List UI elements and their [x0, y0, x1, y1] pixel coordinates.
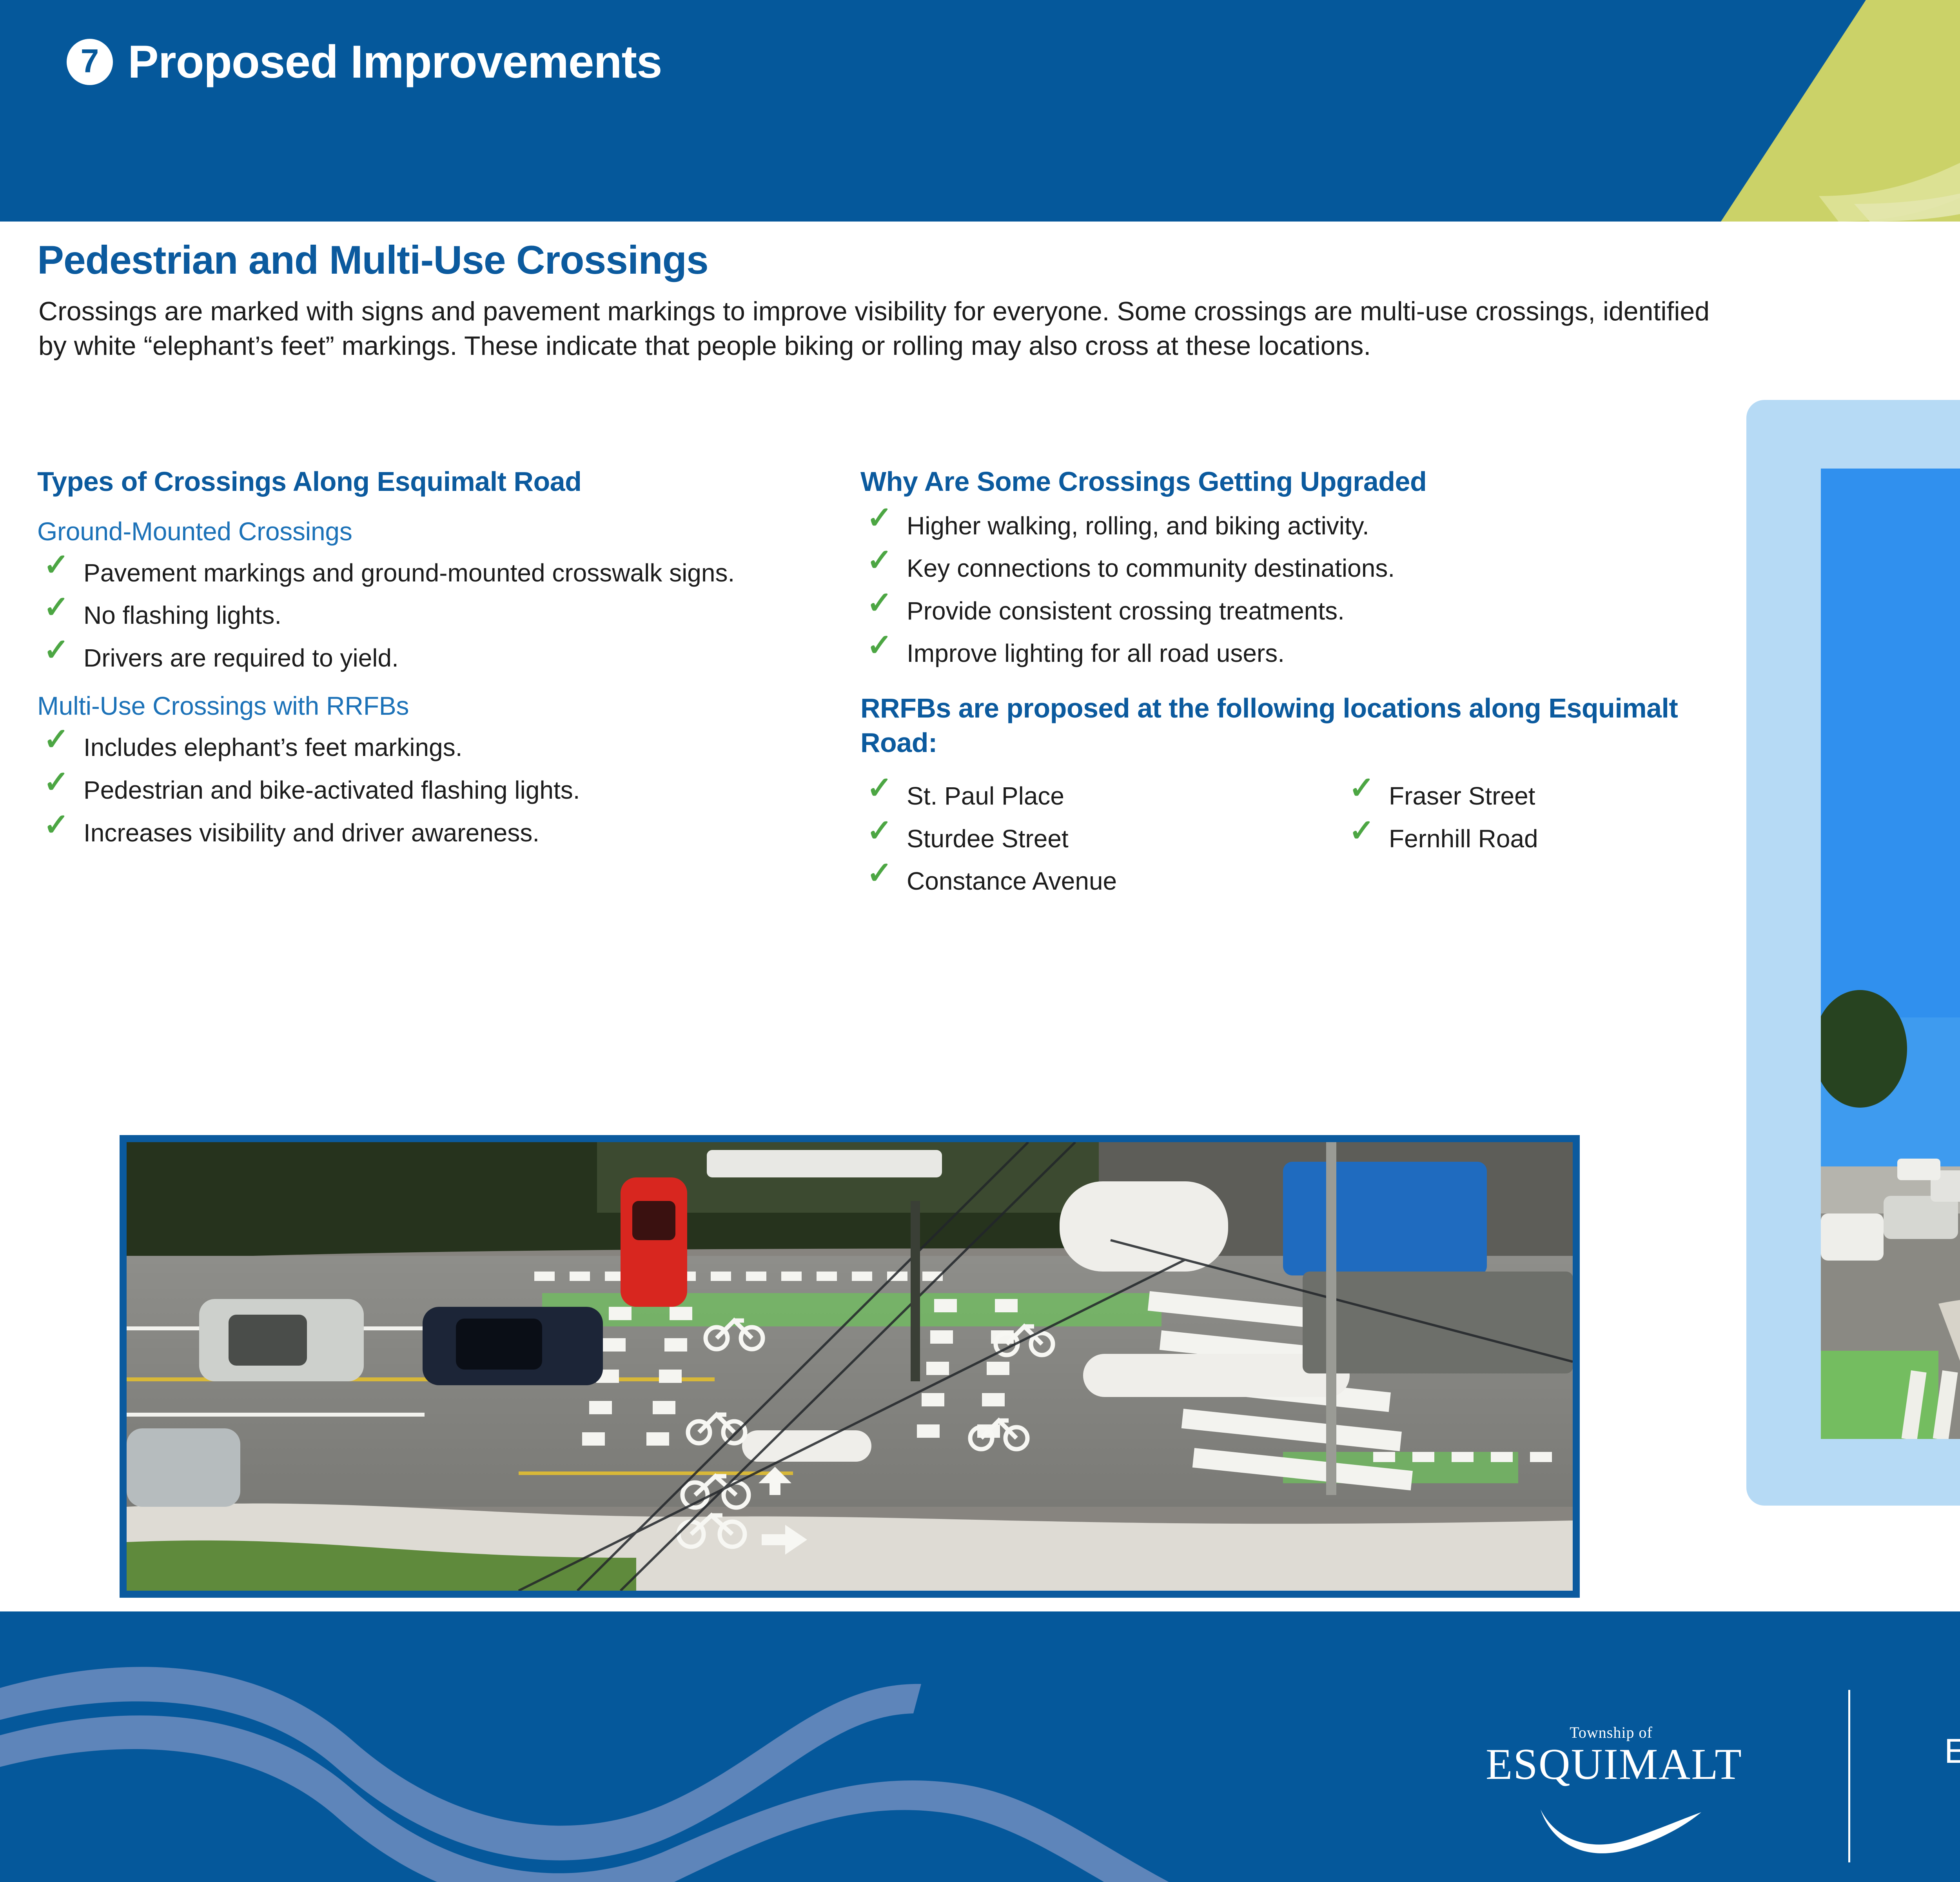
left-column-heading: Types of Crossings Along Esquimalt Road — [37, 465, 876, 499]
check-icon: ✓ — [44, 634, 69, 665]
list-item-label: Fraser Street — [1389, 782, 1535, 810]
main-content: Pedestrian and Multi-Use Crossings Cross… — [0, 222, 1960, 1611]
list-item: ✓Improve lighting for all road users. — [860, 638, 1739, 669]
list-item: ✓Fraser Street — [1343, 780, 1538, 812]
list-item: ✓Pavement markings and ground-mounted cr… — [37, 557, 876, 589]
rrfb-locations-column-right: ✓Fraser Street ✓Fernhill Road — [1343, 769, 1538, 897]
right-column-heading: Why Are Some Crossings Getting Upgraded — [860, 465, 1739, 499]
check-icon: ✓ — [1349, 772, 1374, 803]
check-icon: ✓ — [867, 502, 892, 533]
list-item: ✓St. Paul Place — [860, 780, 1343, 812]
list-item: ✓Drivers are required to yield. — [37, 642, 876, 674]
list-item-label: Fernhill Road — [1389, 825, 1538, 853]
rrfb-locations-column-left: ✓St. Paul Place ✓Sturdee Street ✓Constan… — [860, 769, 1343, 897]
check-icon: ✓ — [44, 767, 69, 797]
list-item: ✓Provide consistent crossing treatments. — [860, 595, 1739, 627]
section-intro-paragraph: Crossings are marked with signs and pave… — [38, 294, 1724, 363]
rrfb-locations-grid: ✓St. Paul Place ✓Sturdee Street ✓Constan… — [860, 769, 1739, 897]
check-icon: ✓ — [867, 772, 892, 803]
header-blue-band — [0, 0, 1866, 222]
check-icon: ✓ — [867, 815, 892, 846]
footer-url: EngagingEsquimalt.ca/EsquimaltRoad — [1944, 1731, 1960, 1771]
list-item: ✓No flashing lights. — [37, 599, 876, 631]
list-item-label: Includes elephant’s feet markings. — [83, 733, 463, 761]
logo-swoosh-icon — [1533, 1808, 1705, 1855]
check-icon: ✓ — [1349, 815, 1374, 846]
list-item-label: Increases visibility and driver awarenes… — [83, 819, 539, 847]
check-icon: ✓ — [867, 630, 892, 660]
list-item-label: St. Paul Place — [907, 782, 1064, 810]
multi-use-list: ✓Includes elephant’s feet markings. ✓Ped… — [37, 732, 876, 848]
check-icon: ✓ — [44, 809, 69, 840]
list-item-label: Provide consistent crossing treatments. — [907, 597, 1345, 625]
header-title-block: 7 Proposed Improvements — [67, 35, 662, 89]
list-item: ✓Includes elephant’s feet markings. — [37, 732, 876, 763]
list-item-label: Constance Avenue — [907, 867, 1117, 895]
check-icon: ✓ — [44, 592, 69, 622]
list-item: ✓Sturdee Street — [860, 823, 1343, 855]
list-item: ✓Increases visibility and driver awarene… — [37, 817, 876, 849]
upgrade-reasons-list: ✓Higher walking, rolling, and biking act… — [860, 510, 1739, 670]
check-icon: ✓ — [867, 857, 892, 888]
list-item: ✓Key connections to community destinatio… — [860, 552, 1739, 584]
check-icon: ✓ — [867, 587, 892, 618]
list-item-label: Higher walking, rolling, and biking acti… — [907, 512, 1369, 540]
ground-mounted-list: ✓Pavement markings and ground-mounted cr… — [37, 557, 876, 674]
section-title: Pedestrian and Multi-Use Crossings — [37, 237, 708, 283]
page-header: 7 Proposed Improvements Phase 2 — [0, 0, 1960, 222]
rrfb-beacon-photo: PUSH BUTTON TO TURN ON — [1821, 469, 1960, 1439]
subheading-ground-mounted: Ground-Mounted Crossings — [37, 516, 876, 546]
check-icon: ✓ — [44, 724, 69, 754]
list-item: ✓Pedestrian and bike-activated flashing … — [37, 774, 876, 806]
list-item-label: Drivers are required to yield. — [83, 644, 399, 672]
rrfb-locations-heading: RRFBs are proposed at the following loca… — [860, 691, 1739, 760]
subheading-multi-use: Multi-Use Crossings with RRFBs — [37, 691, 876, 721]
list-item-label: Pedestrian and bike-activated flashing l… — [83, 776, 580, 804]
list-item: ✓Constance Avenue — [860, 865, 1343, 897]
list-item-label: No flashing lights. — [83, 601, 281, 629]
aerial-intersection-photo — [127, 1142, 1573, 1591]
list-item: ✓Fernhill Road — [1343, 823, 1538, 855]
esquimalt-logo: Township of ESQUIMALT — [1486, 1723, 1737, 1853]
check-icon: ✓ — [867, 545, 892, 575]
page-title: Proposed Improvements — [128, 35, 662, 89]
rrfb-info-panel: PUSH BUTTON TO TURN ON Rectangular Rapid… — [1746, 400, 1960, 1506]
list-item-label: Pavement markings and ground-mounted cro… — [83, 559, 735, 587]
check-icon: ✓ — [44, 549, 69, 580]
list-item-label: Sturdee Street — [907, 825, 1069, 853]
list-item-label: Improve lighting for all road users. — [907, 639, 1285, 667]
list-item-label: Key connections to community destination… — [907, 554, 1395, 582]
right-column: Why Are Some Crossings Getting Upgraded … — [860, 465, 1739, 897]
aerial-intersection-photo-frame — [120, 1135, 1580, 1598]
logo-line-2: ESQUIMALT — [1486, 1742, 1737, 1786]
page-number-badge: 7 — [67, 39, 113, 85]
list-item: ✓Higher walking, rolling, and biking act… — [860, 510, 1739, 542]
left-column: Types of Crossings Along Esquimalt Road … — [37, 465, 876, 848]
logo-line-1: Township of — [1486, 1723, 1737, 1742]
footer-divider — [1848, 1690, 1850, 1862]
